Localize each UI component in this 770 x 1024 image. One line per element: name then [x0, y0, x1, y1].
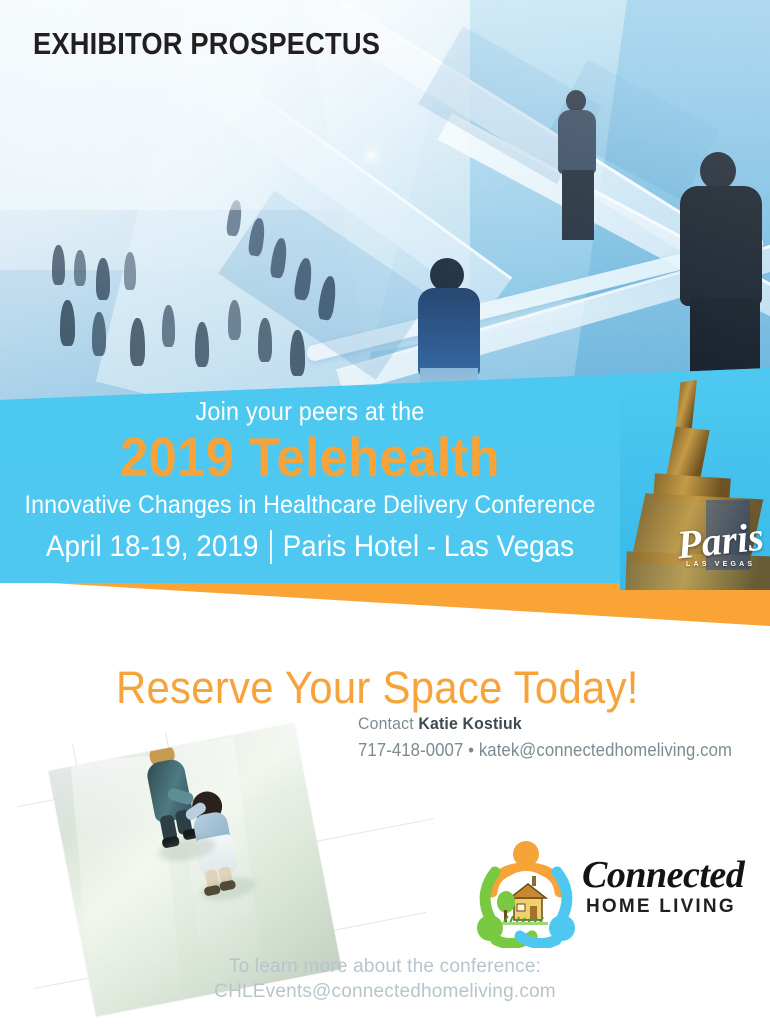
banner-venue: Paris Hotel - Las Vegas	[283, 530, 575, 564]
light-glint	[253, 85, 260, 92]
crowd-figure	[228, 300, 241, 340]
contact-email[interactable]: katek@connectedhomeliving.com	[479, 740, 732, 760]
logo-mark	[470, 840, 582, 948]
paris-hotel-logo: Paris LAS VEGAS	[677, 523, 764, 568]
logo-wordmark: Connected HOME LIVING	[582, 856, 744, 918]
eiffel-tower-photo: Paris LAS VEGAS	[620, 368, 770, 590]
logo-figures-icon	[470, 840, 582, 948]
escalator-band	[148, 31, 512, 312]
banner-event-name: 2019 Telehealth	[25, 429, 595, 485]
logo-brand-script: Connected	[582, 856, 744, 894]
escalator-steps	[418, 26, 602, 184]
house-window-icon	[517, 904, 525, 911]
crowd-figure	[247, 217, 266, 257]
footer-email[interactable]: CHLEvents@connectedhomeliving.com	[0, 981, 770, 1003]
banner-text-block: Join your peers at the 2019 Telehealth I…	[0, 368, 620, 583]
house-chimney-icon	[532, 876, 536, 886]
footer-learn-more-label: To learn more about the conference:	[0, 956, 770, 978]
connected-home-living-logo: Connected HOME LIVING	[470, 840, 730, 948]
banner-dates: April 18-19, 2019	[46, 530, 259, 564]
glass-pane	[570, 0, 770, 420]
contact-person-name: Katie Kostiuk	[418, 714, 521, 733]
crowd-figure	[258, 318, 272, 362]
light-glint	[144, 70, 151, 77]
contact-bullet-separator: •	[468, 740, 474, 760]
crowd-figure	[162, 305, 175, 347]
crowd-figure	[293, 257, 314, 301]
contact-detail-line: 717-418-0007 • katek@connectedhomeliving…	[358, 740, 732, 761]
escalator-band	[326, 1, 734, 274]
logo-brand-subtitle: HOME LIVING	[586, 896, 744, 918]
crowd-figure	[60, 300, 75, 346]
light-glint	[107, 175, 114, 182]
hero-photo-convention-center	[0, 0, 770, 420]
contact-name-line: Contact Katie Kostiuk	[358, 714, 732, 734]
contact-block: Contact Katie Kostiuk 717-418-0007 • kat…	[358, 714, 732, 761]
light-glint	[228, 112, 235, 119]
crowd-figure	[195, 322, 209, 367]
escalator-handrail	[305, 233, 765, 362]
contact-phone[interactable]: 717-418-0007	[358, 740, 463, 760]
crowd-figure	[124, 252, 136, 290]
crowd-figure-legs	[562, 170, 594, 240]
ground-icon	[502, 922, 548, 925]
crowd-figure	[92, 312, 106, 356]
glass-pane	[96, 0, 464, 420]
crowd-figure	[74, 250, 86, 286]
crowd-figure-head	[700, 152, 736, 190]
crowd-figure-torso	[680, 186, 762, 306]
paris-logo-script: Paris	[676, 519, 766, 564]
crowd-figure	[96, 258, 110, 300]
crowd-figure	[52, 245, 65, 285]
footer-block: To learn more about the conference: CHLE…	[0, 956, 770, 1003]
crowd-figure-torso	[558, 110, 596, 174]
banner-subtitle: Innovative Changes in Healthcare Deliver…	[22, 491, 599, 520]
crowd-figure	[317, 275, 338, 321]
escalator-steps	[218, 190, 431, 379]
crowd-figure	[130, 318, 145, 366]
reserve-headline: Reserve Your Space Today!	[116, 662, 639, 714]
escalator-band	[438, 113, 770, 337]
date-venue-separator	[270, 530, 272, 564]
crowd-figure	[226, 199, 244, 236]
glass-pane	[470, 0, 770, 300]
crowd-figure	[269, 237, 288, 279]
light-glint	[368, 152, 375, 159]
tree-icon	[497, 891, 515, 913]
crowd-figure-torso	[418, 288, 480, 376]
prospectus-page: EXHIBITOR PROSPECTUS Paris LAS VEGAS Joi…	[0, 0, 770, 1024]
banner-date-venue: April 18-19, 2019 Paris Hotel - Las Vega…	[22, 530, 599, 564]
crowd-figure-head	[430, 258, 464, 292]
banner-join-line: Join your peers at the	[31, 396, 589, 427]
contact-prefix-label: Contact	[358, 714, 418, 733]
page-title: EXHIBITOR PROSPECTUS	[33, 26, 380, 62]
crowd-figure-head	[566, 90, 586, 112]
escalator-steps	[550, 59, 720, 200]
